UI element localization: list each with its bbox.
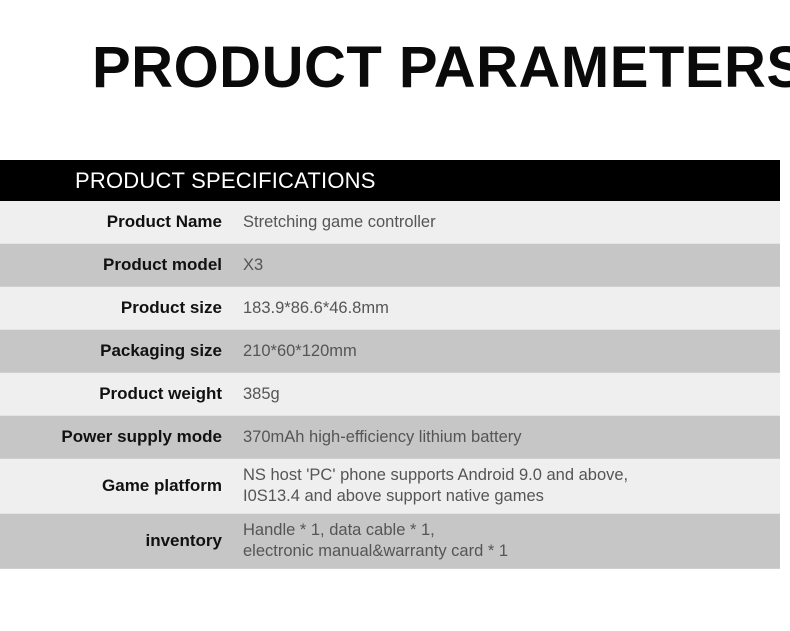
spec-value: NS host 'PC' phone supports Android 9.0 … [222, 465, 780, 507]
title-area: PRODUCT PARAMETERS [0, 0, 790, 160]
spec-value: 210*60*120mm [222, 341, 780, 362]
table-row: Game platformNS host 'PC' phone supports… [0, 459, 780, 514]
product-parameters-page: PRODUCT PARAMETERS PRODUCT SPECIFICATION… [0, 0, 790, 631]
table-row: Product NameStretching game controller [0, 201, 780, 244]
spec-value-line: NS host 'PC' phone supports Android 9.0 … [243, 465, 780, 486]
spec-label: Product size [0, 298, 222, 318]
spec-value: 385g [222, 384, 780, 405]
spec-value: Handle * 1, data cable * 1,electronic ma… [222, 520, 780, 562]
spec-value-line: electronic manual&warranty card * 1 [243, 541, 780, 562]
spec-label: Power supply mode [0, 427, 222, 447]
spec-value: X3 [222, 255, 780, 276]
spec-value-line: X3 [243, 255, 780, 276]
table-row: Product weight385g [0, 373, 780, 416]
spec-value-line: 210*60*120mm [243, 341, 780, 362]
spec-value-line: Handle * 1, data cable * 1, [243, 520, 780, 541]
table-row: Product modelX3 [0, 244, 780, 287]
spec-value-line: 183.9*86.6*46.8mm [243, 298, 780, 319]
spec-value: 183.9*86.6*46.8mm [222, 298, 780, 319]
table-header-label: PRODUCT SPECIFICATIONS [0, 168, 376, 194]
spec-label: Packaging size [0, 341, 222, 361]
spec-label: Product model [0, 255, 222, 275]
spec-label: Product weight [0, 384, 222, 404]
spec-value: 370mAh high-efficiency lithium battery [222, 427, 780, 448]
spec-value-line: 370mAh high-efficiency lithium battery [243, 427, 780, 448]
spec-label: Product Name [0, 212, 222, 232]
table-row: Product size183.9*86.6*46.8mm [0, 287, 780, 330]
spec-label: inventory [0, 531, 222, 551]
spec-value-line: Stretching game controller [243, 212, 780, 233]
table-body: Product NameStretching game controllerPr… [0, 201, 780, 569]
spec-value-line: 385g [243, 384, 780, 405]
table-row: Power supply mode370mAh high-efficiency … [0, 416, 780, 459]
product-specifications-table: PRODUCT SPECIFICATIONS Product NameStret… [0, 160, 780, 569]
table-header: PRODUCT SPECIFICATIONS [0, 160, 780, 201]
spec-value-line: I0S13.4 and above support native games [243, 486, 780, 507]
spec-label: Game platform [0, 476, 222, 496]
spec-value: Stretching game controller [222, 212, 780, 233]
table-row: inventoryHandle * 1, data cable * 1,elec… [0, 514, 780, 569]
page-title: PRODUCT PARAMETERS [92, 38, 790, 98]
table-row: Packaging size210*60*120mm [0, 330, 780, 373]
